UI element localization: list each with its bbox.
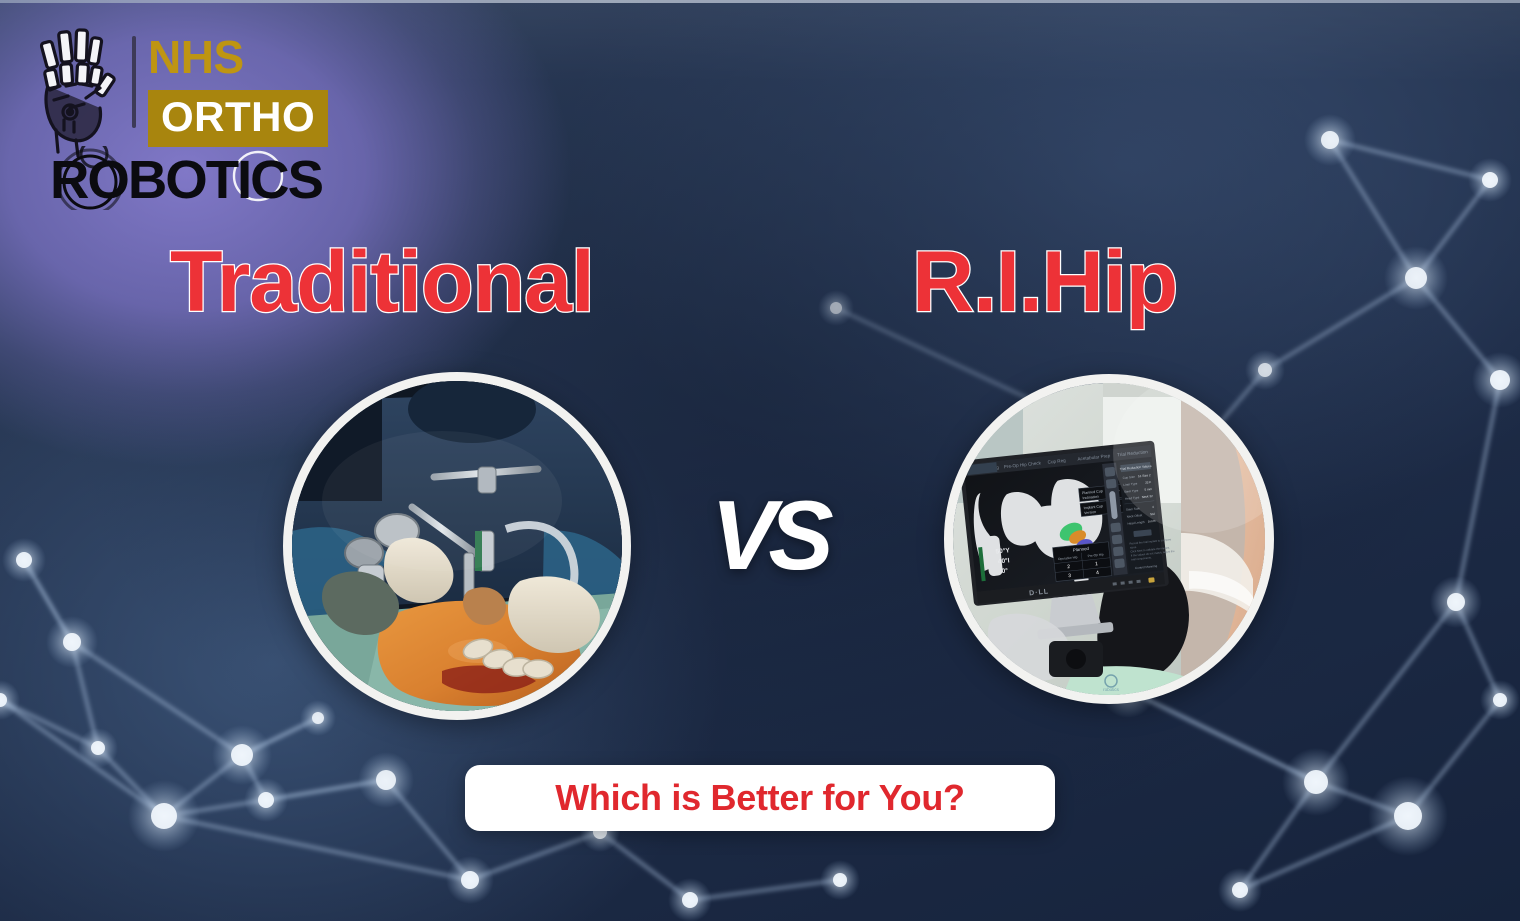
logo-robotics-text: ROBOTICS [50,150,322,210]
logo-robotics-wordmark: ROBOTICS [50,146,330,210]
top-edge-line [0,0,1520,3]
logo-ortho-badge: ORTHO [148,90,328,147]
cta-banner[interactable]: Which is Better for You? [465,765,1055,831]
heading-traditional: Traditional [170,239,594,325]
traditional-surgery-image[interactable] [283,372,631,720]
svg-text:sizes.: sizes. [1130,545,1138,550]
promo-graphic-canvas: NHS ORTHO ROBOTICS Traditional R.I.Hip [0,0,1520,921]
svg-text:40°I: 40°I [997,556,1010,565]
traditional-surgery-photo [292,381,622,711]
brand-logo[interactable]: NHS ORTHO ROBOTICS [24,18,324,198]
logo-nhs-text: NHS [148,34,244,80]
robotic-hand-icon [24,20,120,160]
vs-badge: VS [711,486,826,584]
svg-text:0°: 0° [1001,566,1008,575]
robotic-navigation-image[interactable]: Case Planning Pre-Op Hip Check Cup Reg A… [944,374,1274,704]
logo-divider [132,36,136,128]
svg-text:robotics: robotics [1103,687,1120,692]
heading-rihip: R.I.Hip [912,239,1177,325]
robotic-navigation-screen-photo: Case Planning Pre-Op Hip Check Cup Reg A… [953,383,1265,695]
cta-banner-text: Which is Better for You? [555,777,965,819]
svg-text:50°Y: 50°Y [995,546,1011,556]
